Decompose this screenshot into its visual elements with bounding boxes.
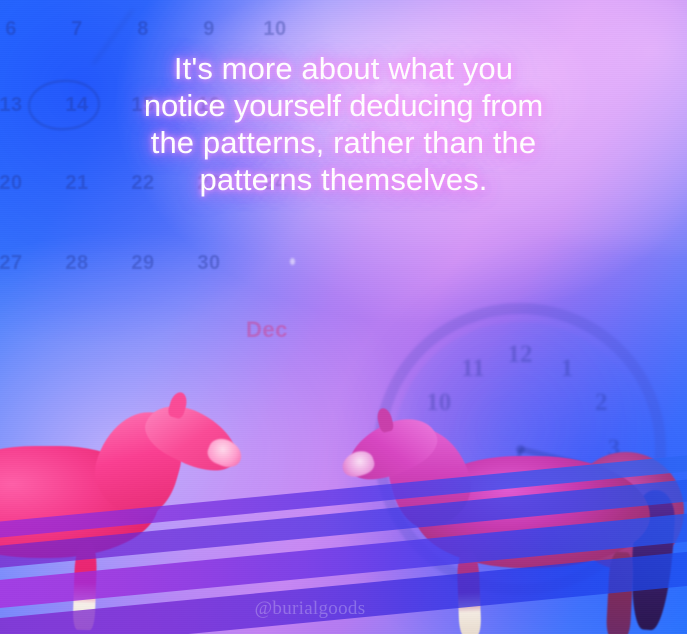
clock-numeral-2: 2: [595, 389, 608, 417]
calendar-week-row: 6 7 8 9 10: [0, 18, 308, 41]
background-violet-wash: [0, 0, 687, 634]
clock-numeral-12: 12: [508, 341, 533, 369]
horse-hind-leg: [606, 551, 634, 634]
horse-neck: [85, 401, 192, 524]
clock-numeral-7: 7: [467, 515, 480, 543]
floor-stripe: [0, 506, 687, 614]
floor-stripes: [0, 414, 687, 634]
clock-numeral-3: 3: [608, 435, 621, 463]
calendar-day: [242, 94, 308, 117]
calendar-day: 13: [0, 94, 44, 117]
horse-head: [137, 394, 246, 483]
clock-hour-hand: [519, 446, 584, 468]
calendar-day: 30: [176, 252, 242, 275]
clock-minute-hand: [507, 449, 522, 553]
calendar-day: 8: [110, 18, 176, 41]
clock-face: 12 1 2 3 4 5 6 7 8 9 10 11: [393, 322, 647, 576]
calendar-day: 16: [176, 94, 242, 117]
horse-front-leg: [457, 552, 482, 634]
calendar-circle-marking: [27, 78, 102, 132]
horse-front-leg: [72, 542, 97, 631]
calendar-day: 20: [0, 172, 44, 195]
calendar-week-row: 20 21 22 23 24: [0, 172, 308, 195]
film-grain-overlay: [0, 0, 687, 634]
wall-clock: 12 1 2 3 4 5 6 7 8 9 10 11: [374, 303, 666, 595]
caption-line: the patterns, rather than the: [0, 124, 687, 161]
horse-haunch: [568, 452, 684, 570]
clock-numeral-6: 6: [514, 529, 527, 557]
calendar-day: 29: [110, 252, 176, 275]
clock-numeral-8: 8: [432, 481, 445, 509]
vignette-overlay: [0, 0, 687, 634]
wall-calendar: 6 7 8 9 10 13 14 15 16 20 21 22 23 24 27…: [0, 4, 308, 354]
calendar-day: 15: [110, 94, 176, 117]
clock-numeral-1: 1: [561, 355, 574, 383]
clock-numeral-4: 4: [595, 481, 608, 509]
calendar-day: 28: [44, 252, 110, 275]
horse-muzzle: [204, 435, 245, 472]
caption-line: It's more about what you: [0, 50, 687, 87]
clock-numeral-10: 10: [426, 389, 451, 417]
horse-body: [414, 456, 650, 568]
clock-numeral-11: 11: [461, 355, 485, 383]
calendar-week-row: 13 14 15 16: [0, 94, 308, 117]
calendar-day: 22: [110, 172, 176, 195]
calendar-day: 7: [44, 18, 110, 41]
calendar-day: 6: [0, 18, 44, 41]
clock-numeral-9: 9: [420, 435, 433, 463]
calendar-day: 23: [176, 172, 242, 195]
background-blue-wash: [0, 0, 687, 634]
horse-body: [0, 446, 158, 558]
calendar-day: 27: [0, 252, 44, 275]
caption-overlay: It's more about what you notice yourself…: [0, 50, 687, 198]
horse-figurine-right: [340, 410, 687, 634]
horse-neck: [378, 417, 481, 535]
horse-ear: [375, 407, 394, 434]
horse-figurine-left: [0, 390, 262, 634]
horse-ear: [167, 390, 190, 419]
calendar-day: 9: [176, 18, 242, 41]
calendar-day-circled: 14: [44, 94, 110, 117]
calendar-week-row: 27 28 29 30: [0, 252, 308, 275]
calendar-speck: [290, 258, 295, 265]
floor-stripe: [0, 472, 687, 574]
calendar-smudge-marking: [92, 9, 206, 97]
background-gradient: [0, 0, 687, 634]
background-pink-glow: [0, 0, 687, 634]
floor-stripe: [0, 448, 687, 544]
caption-line: notice yourself deducing from: [0, 87, 687, 124]
floor-stripe: [0, 544, 687, 634]
calendar-day: 24: [242, 172, 308, 195]
horse-muzzle: [339, 448, 377, 481]
calendar-month-label: Dec: [246, 317, 288, 343]
watermark-handle: @burialgoods: [0, 598, 620, 620]
video-still-frame: 6 7 8 9 10 13 14 15 16 20 21 22 23 24 27…: [0, 0, 687, 634]
calendar-day: 21: [44, 172, 110, 195]
horse-haunch: [0, 442, 2, 564]
horse-tail: [627, 489, 677, 631]
clock-center-pivot: [516, 445, 525, 454]
clock-numeral-5: 5: [561, 515, 574, 543]
horse-head: [340, 407, 444, 490]
caption-line: patterns themselves.: [0, 161, 687, 198]
calendar-day: 10: [242, 18, 308, 41]
calendar-day: [242, 252, 308, 275]
